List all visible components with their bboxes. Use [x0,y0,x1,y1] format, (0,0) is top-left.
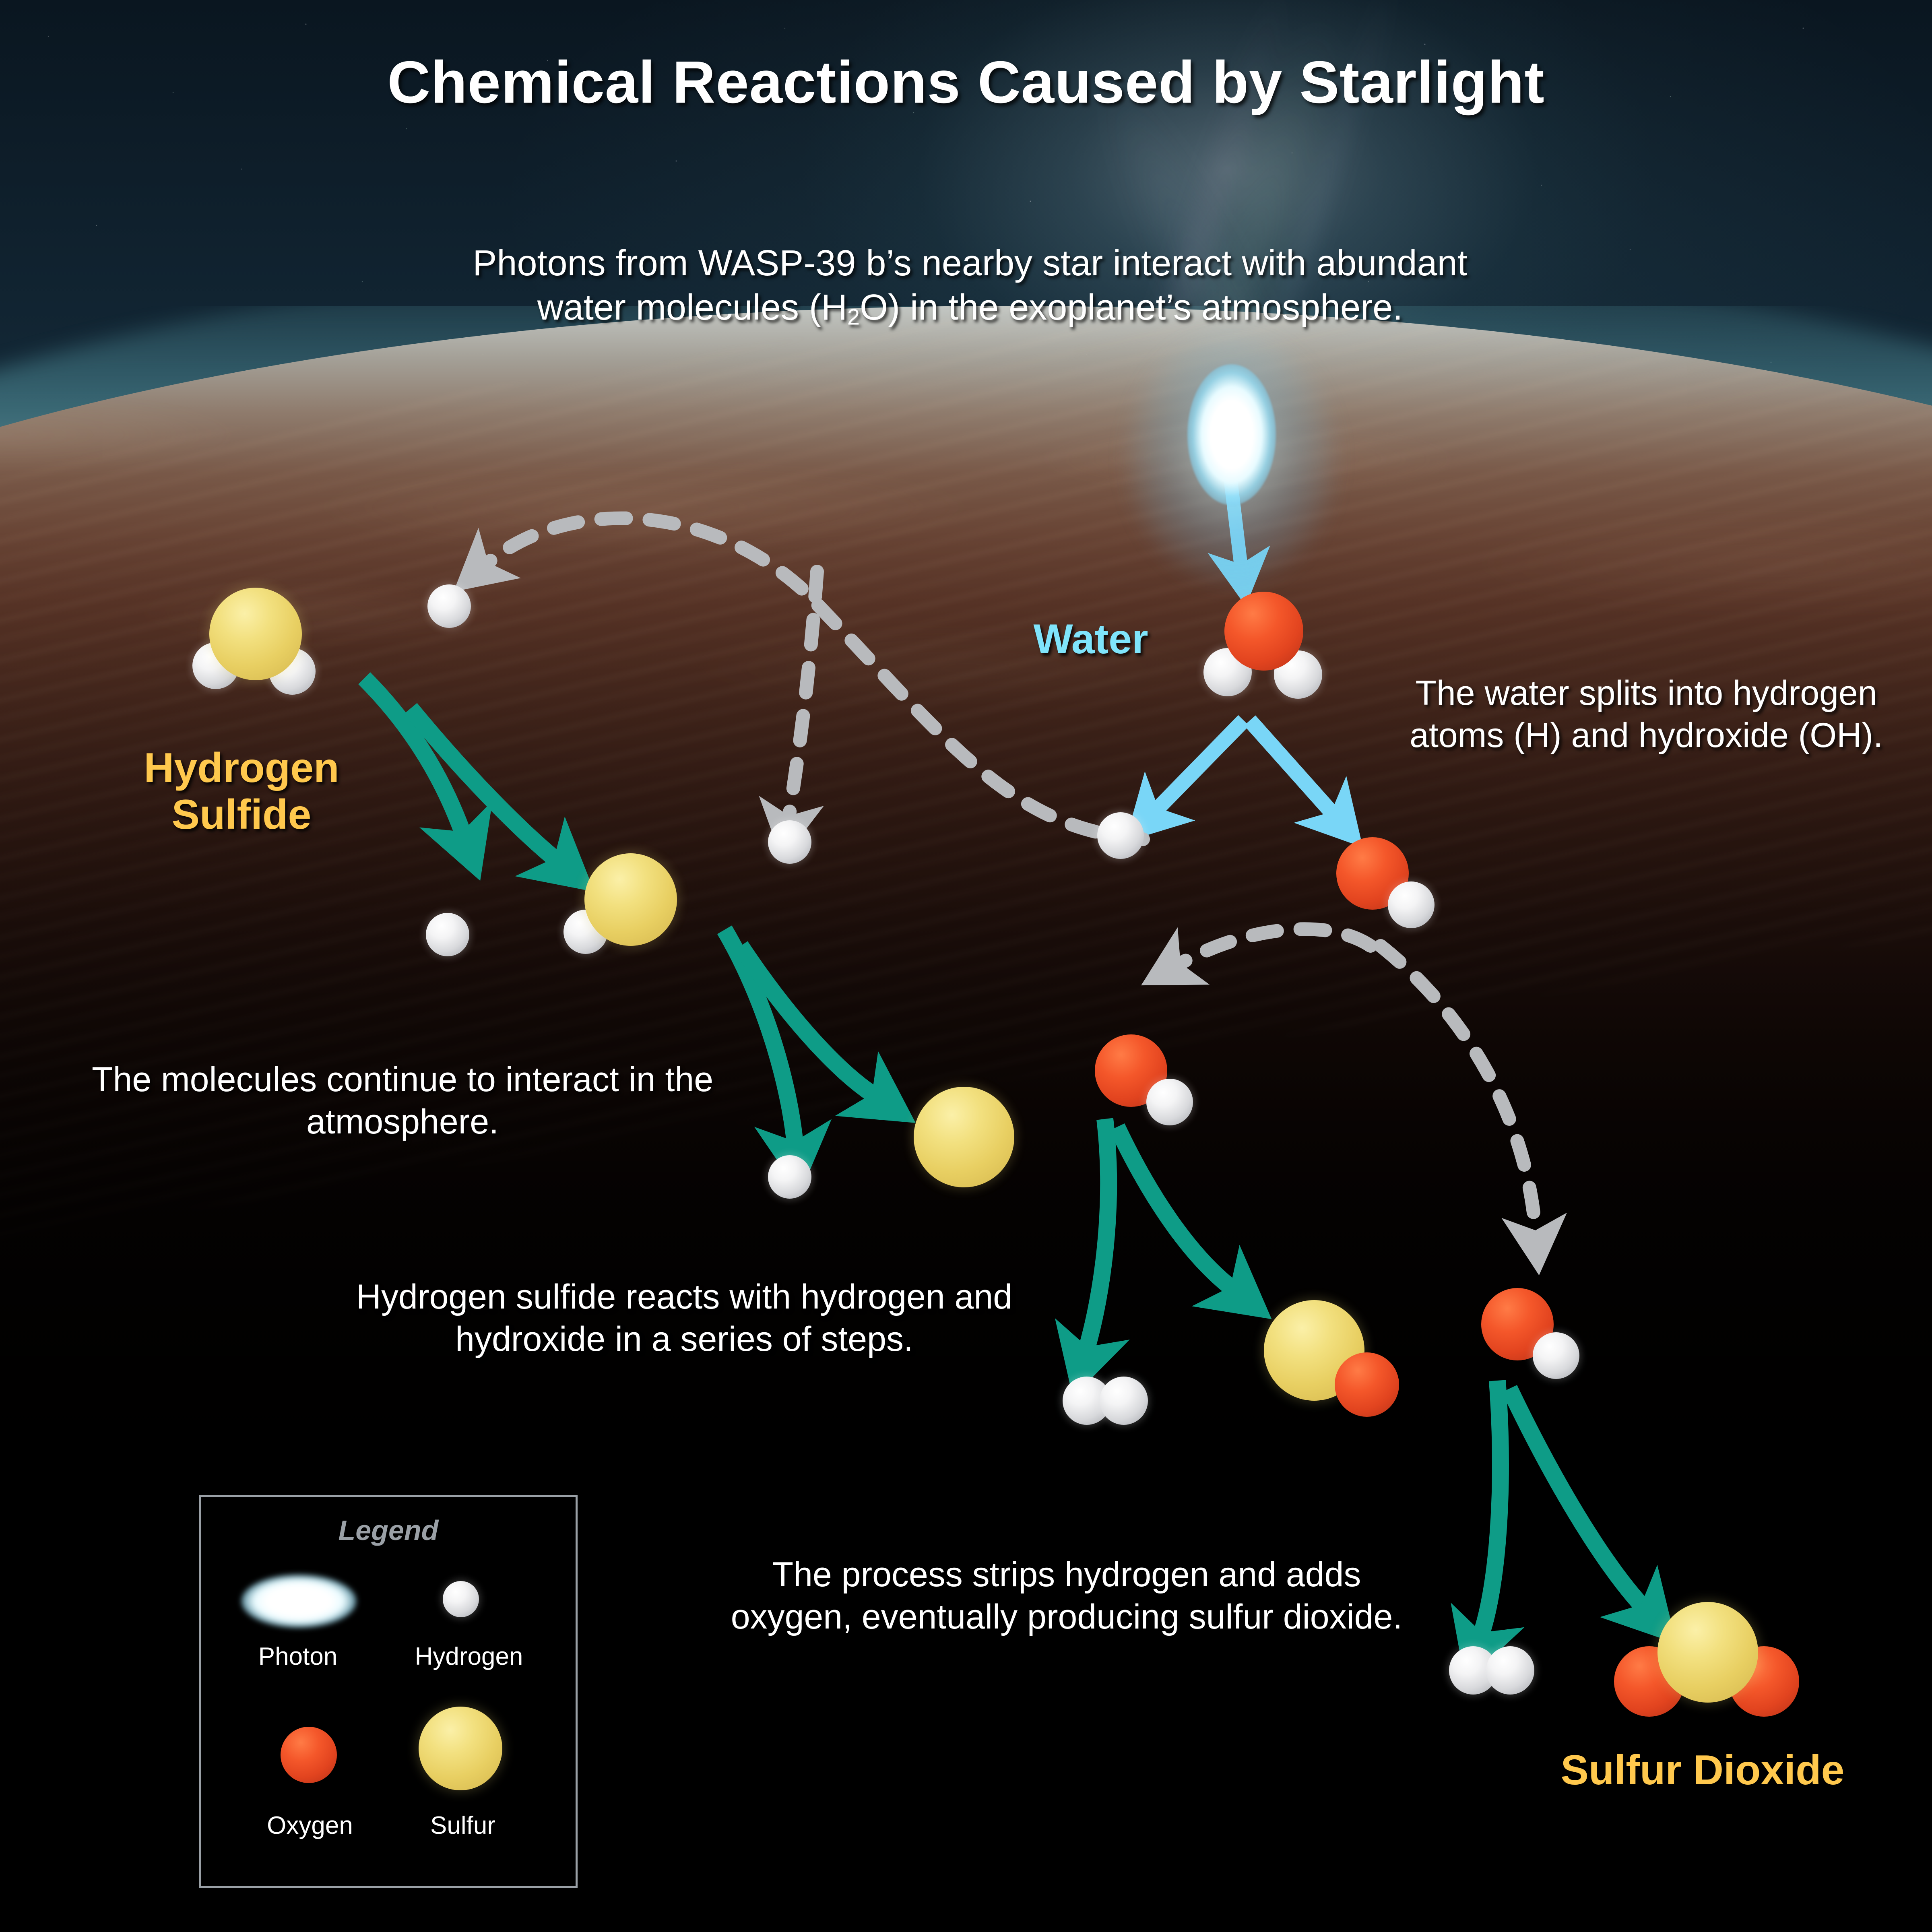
atom-hydrogen [1486,1646,1534,1695]
label-sulfur-dioxide: Sulfur Dioxide [1554,1747,1851,1794]
molecule-hydrogen-diatomic-2 [1449,1646,1542,1699]
photon-icon [242,1575,356,1628]
subtitle-line-2-pre: water molecules (H [537,287,847,328]
legend-label-oxygen: Oxygen [229,1811,390,1840]
legend-label-photon: Photon [229,1642,366,1671]
molecule-water [1203,592,1332,700]
legend-swatch-oxygen [281,1727,337,1783]
legend-label-hydrogen: Hydrogen [390,1642,547,1671]
molecule-sulfur-dioxide [1614,1602,1803,1739]
atom-sulfur-free [914,1087,1014,1187]
legend-panel: Legend Photon Hydrogen Oxygen Sulfur [199,1495,578,1888]
atom-hydrogen-free-2 [426,913,469,956]
infographic-canvas: Chemical Reactions Caused by Starlight P… [0,0,1932,1932]
legend-swatch-hydrogen [443,1581,479,1617]
atom-hydrogen-split-product [1097,812,1144,859]
legend-swatch-sulfur [419,1707,502,1790]
atom-sulfur [209,588,302,680]
atom-hydrogen-free-3 [768,820,811,864]
atom-oxygen [1335,1352,1399,1417]
atom-hydrogen [1146,1079,1193,1125]
atom-oxygen [1224,592,1303,671]
molecule-sulfur-hydride [563,853,692,958]
callout-process-strips: The process strips hydrogen and adds oxy… [724,1554,1409,1638]
molecule-hydrogen-diatomic-1 [1063,1377,1155,1429]
atom-hydrogen [1388,881,1435,928]
callout-water-splits: The water splits into hydrogen atoms (H)… [1385,672,1908,757]
subtitle-line-2-post: O) in the exoplanet’s atmosphere. [860,287,1403,328]
legend-label-sulfur: Sulfur [386,1811,539,1840]
atom-hydrogen-free-1 [427,584,471,628]
legend-title: Legend [201,1514,576,1546]
atom-hydrogen [1533,1332,1579,1379]
label-hydrogen-sulfide: Hydrogen Sulfide [93,745,390,838]
subtitle: Photons from WASP-39 b’s nearby star int… [306,242,1634,330]
atom-hydrogen-free-4 [768,1155,811,1199]
legend-swatch-photon [229,1566,366,1636]
photon-icon [1187,364,1276,505]
callout-molecules-continue: The molecules continue to interact in th… [89,1059,716,1143]
label-water: Water [998,616,1183,663]
molecule-hydroxide-3 [1481,1288,1586,1385]
page-title: Chemical Reactions Caused by Starlight [0,48,1932,117]
subtitle-line-1: Photons from WASP-39 b’s nearby star int… [473,243,1467,283]
atom-hydrogen [1100,1377,1148,1425]
molecule-hydroxide-2 [1095,1034,1199,1131]
molecule-hydroxide-1 [1336,837,1441,934]
atom-sulfur [1657,1602,1758,1703]
molecule-sulfur-monoxide [1264,1300,1397,1417]
molecule-hydrogen-sulfide [189,588,334,700]
subtitle-subscript: 2 [847,304,860,329]
callout-h2s-reacts: Hydrogen sulfide reacts with hydrogen an… [346,1276,1022,1360]
atom-sulfur [584,853,677,946]
